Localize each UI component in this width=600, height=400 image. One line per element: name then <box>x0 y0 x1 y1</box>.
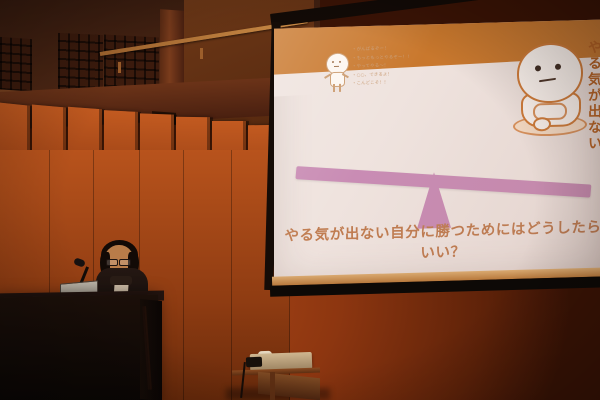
speaker-collar <box>110 276 132 285</box>
projection-screen: ・がんばるぞー！ ・もっともっとやるぞー！！ ・やってやる〜！ ・○○、できるよ… <box>274 19 600 284</box>
motivation-phrase-list: ・がんばるぞー！ ・もっともっとやるぞー！！ ・やってやる〜！ ・○○、できるよ… <box>352 43 482 90</box>
podium <box>0 295 158 400</box>
speaker-glasses <box>119 259 131 266</box>
handrail-post <box>200 48 203 59</box>
vertical-label-text: やる気が出ない <box>584 39 600 152</box>
presentation-photo: ・がんばるぞー！ ・もっともっとやるぞー！！ ・やってやる〜！ ・○○、できるよ… <box>0 0 600 400</box>
projector-table-leg <box>270 372 275 400</box>
speaker-glasses <box>106 259 118 266</box>
projector-rear <box>246 357 262 368</box>
slide-caption: やる気が出ない自分に勝つためにはどうしたらいい？ <box>278 215 600 266</box>
slide-content: ・がんばるぞー！ ・もっともっとやるぞー！！ ・やってやる〜！ ・○○、できるよ… <box>274 19 600 284</box>
unmotivated-character-icon <box>511 42 587 136</box>
small-character-icon <box>324 53 350 94</box>
handrail-post <box>118 62 121 73</box>
